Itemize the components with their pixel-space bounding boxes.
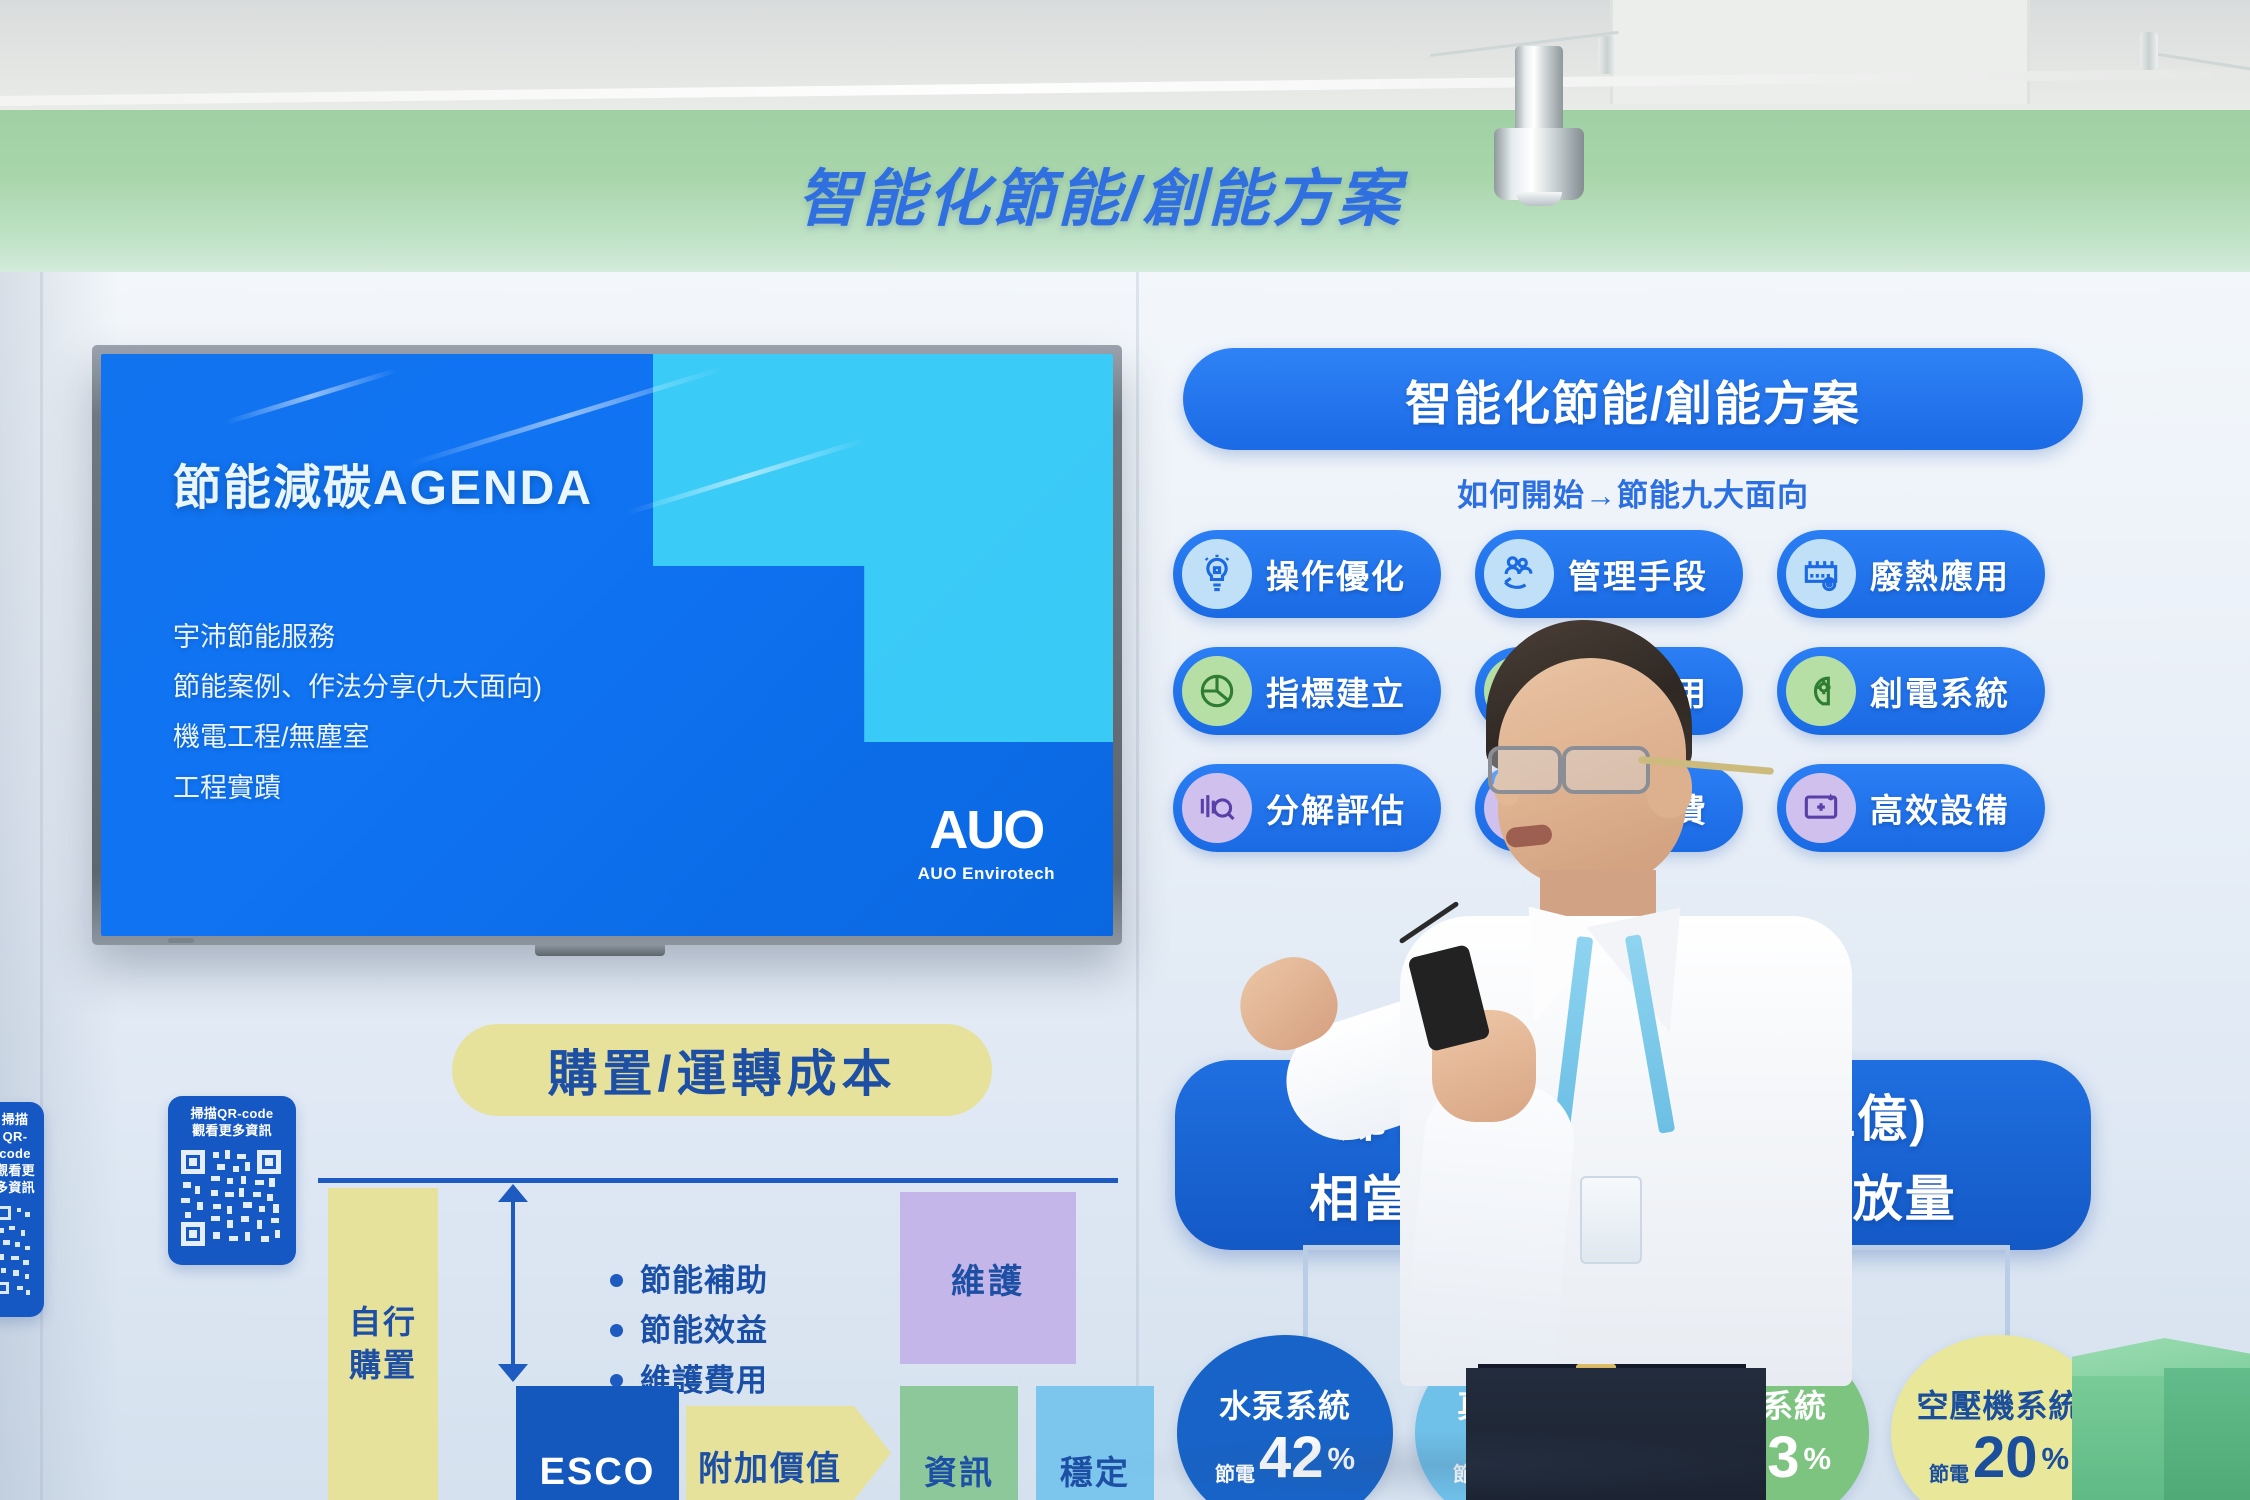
booth-photo-scene: 智能化節能/創能方案 節能減碳AGENDA 宇沛節能服務 節能案例、作法分享(九… [0,0,2250,1500]
wall-seam-left [40,272,43,1500]
chip-label: 指標建立 [1266,667,1406,715]
information-box: 資訊 [900,1386,1018,1500]
badge-metric-label: 節電 [1929,1465,1969,1485]
qr-card-partial[interactable]: 掃描QR-code 觀看更多資訊 [0,1102,44,1317]
cost-section-title-pill: 購置/運轉成本 [452,1024,992,1116]
presenter [1390,620,1860,1500]
maintenance-box: 維護 [900,1192,1076,1364]
badge-system-name: 水泵系統 [1219,1381,1351,1427]
badge-system-name: 空壓機系統 [1916,1381,2081,1427]
qr-caption-line-2: 觀看更多資訊 [0,1163,35,1195]
badge-unit: % [2041,1441,2069,1485]
floor-shadow [1100,1430,1800,1500]
cost-section-title: 購置/運轉成本 [548,1034,897,1106]
qr-caption-line-1: 掃描QR-code [0,1112,31,1161]
slide-bullet: 節能案例、作法分享(九大面向) [173,662,542,712]
chip-waste-heat-application[interactable]: 廢熱應用 [1777,530,2045,618]
added-value-label: 附加價值 [698,1441,842,1490]
presenter-glasses [1488,746,1658,796]
self-purchase-column: 自行購置 [328,1188,438,1500]
qr-caption-line-1: 掃描QR-code [191,1106,274,1121]
slide-cyan-shape [653,354,1113,742]
pedestal-side [2164,1368,2250,1500]
badge-value: 20 [1973,1431,2038,1484]
spotlight-body [1515,46,1563,138]
slide-bullet: 工程實蹟 [173,763,542,813]
light-rig-right [2140,24,2250,68]
qr-caption: 掃描QR-code 觀看更多資訊 [177,1106,287,1140]
cost-comparison-diagram: 自行購置 節能補助 節能效益 維護費用 維護 ESCO 附加價值 資訊 穩定 [318,1178,1118,1500]
diagram-top-rule [318,1178,1118,1183]
slide-title: 節能減碳AGENDA [173,448,593,518]
green-display-pedestal [2072,1338,2250,1500]
connector-drop [2005,1245,2010,1337]
arrow-down-icon [498,1364,528,1382]
connector-drop [1303,1245,1308,1337]
pie-chart-icon [1182,656,1252,726]
tv-screen: 節能減碳AGENDA 宇沛節能服務 節能案例、作法分享(九大面向) 機電工程/無… [101,354,1113,936]
ceiling-panel [1610,0,2030,104]
light-clip [2140,32,2158,70]
added-value-tag: 附加價值 [686,1406,891,1500]
wall-headline: 智能化節能/創能方案 [690,148,1510,238]
tv-stand [535,944,665,956]
light-clip [1598,36,1616,74]
wall-seam-center [1136,272,1139,1500]
presenter-forearm [1403,1076,1579,1388]
esco-box: ESCO [516,1386,679,1500]
glasses-lens-left [1488,746,1562,794]
panel-subtitle: 如何開始→節能九大面向 [1183,470,2083,515]
maintenance-label: 維護 [951,1254,1025,1303]
panel-header-pill: 智能化節能/創能方案 [1183,348,2083,450]
cost-bullet: 節能效益 [610,1306,768,1356]
self-purchase-label: 自行購置 [349,1301,417,1387]
slide-bullet: 機電工程/無塵室 [173,712,542,762]
lightbulb-icon [1182,539,1252,609]
esco-label: ESCO [540,1451,656,1494]
chip-label: 高效設備 [1870,784,2010,832]
qr-code-image [0,1202,35,1307]
presentation-display: 節能減碳AGENDA 宇沛節能服務 節能案例、作法分享(九大面向) 機電工程/無… [92,345,1122,945]
cost-bullet-list: 節能補助 節能效益 維護費用 [570,1256,768,1407]
chip-label: 分解評估 [1266,784,1406,832]
slide-bullet-list: 宇沛節能服務 節能案例、作法分享(九大面向) 機電工程/無塵室 工程實蹟 [173,612,542,813]
qr-caption: 掃描QR-code 觀看更多資訊 [0,1112,35,1196]
slide-streak [224,368,398,425]
chip-label: 創電系統 [1870,667,2010,715]
qr-code-image [177,1146,287,1255]
qr-card[interactable]: 掃描QR-code 觀看更多資訊 [168,1096,296,1265]
information-label: 資訊 [924,1446,994,1494]
arrow-shaft [511,1190,515,1380]
magnifier-icon [1182,773,1252,843]
chip-label: 管理手段 [1568,550,1708,598]
cost-bullet: 節能補助 [610,1256,768,1306]
factory-gear-icon [1786,539,1856,609]
chip-management-methods[interactable]: 管理手段 [1475,530,1743,618]
chip-row-1: 操作優化 管理手段 [1173,530,2123,618]
id-badge [1580,1176,1642,1264]
pedestal-front [2072,1376,2164,1500]
spotlight-lens [1516,192,1562,206]
slide-bullet: 宇沛節能服務 [173,612,542,662]
auo-logo: AUO AUO Envirotech [918,803,1055,884]
qr-caption-line-2: 觀看更多資訊 [192,1123,272,1138]
glasses-lens-right [1562,746,1650,794]
tv-indicator-led [168,938,194,943]
chip-label: 廢熱應用 [1870,550,2010,598]
chip-label: 操作優化 [1266,550,1406,598]
auo-logo-mark: AUO [918,803,1055,857]
chip-operation-optimization[interactable]: 操作優化 [1173,530,1441,618]
auo-logo-subtitle: AUO Envirotech [918,864,1055,884]
panel-header-text: 智能化節能/創能方案 [1405,365,1861,434]
people-hands-icon [1484,539,1554,609]
